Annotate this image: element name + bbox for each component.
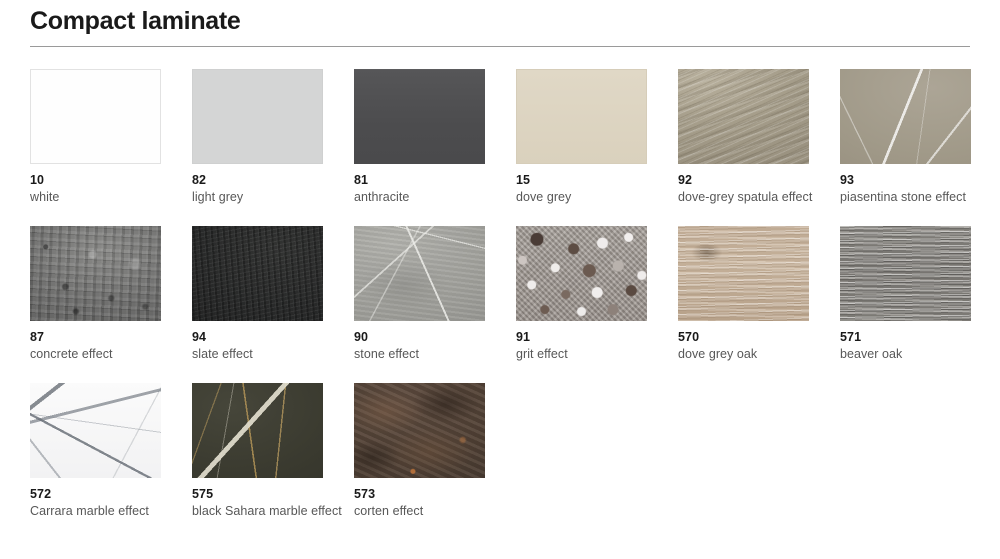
swatch-name: concrete effect: [30, 347, 180, 363]
title-divider: [30, 46, 970, 47]
swatch-item[interactable]: 572Carrara marble effect: [30, 383, 182, 520]
swatch-meta: 91grit effect: [516, 330, 666, 363]
swatch-corten-effect[interactable]: [354, 383, 485, 478]
swatch-meta: 10white: [30, 173, 180, 206]
swatch-anthracite[interactable]: [354, 69, 485, 164]
swatch-item[interactable]: 81anthracite: [354, 69, 506, 206]
swatch-item[interactable]: 90stone effect: [354, 226, 506, 363]
swatch-name: Carrara marble effect: [30, 504, 180, 520]
swatch-code: 92: [678, 173, 828, 188]
swatch-item[interactable]: 87concrete effect: [30, 226, 182, 363]
swatch-item[interactable]: 570dove grey oak: [678, 226, 830, 363]
swatch-white[interactable]: [30, 69, 161, 164]
swatch-light-grey[interactable]: [192, 69, 323, 164]
swatch-meta: 94slate effect: [192, 330, 342, 363]
swatch-concrete-effect[interactable]: [30, 226, 161, 321]
swatch-name: stone effect: [354, 347, 504, 363]
swatch-item[interactable]: 82light grey: [192, 69, 344, 206]
swatch-item[interactable]: 92dove-grey spatula effect: [678, 69, 830, 206]
swatch-name: grit effect: [516, 347, 666, 363]
swatch-piasentina-stone-effect[interactable]: [840, 69, 971, 164]
swatch-dove-grey-oak[interactable]: [678, 226, 809, 321]
swatch-item[interactable]: 91grit effect: [516, 226, 668, 363]
swatch-item[interactable]: 10white: [30, 69, 182, 206]
swatch-dove-grey-spatula-effect[interactable]: [678, 69, 809, 164]
swatch-meta: 571beaver oak: [840, 330, 990, 363]
swatch-code: 15: [516, 173, 666, 188]
swatch-meta: 90stone effect: [354, 330, 504, 363]
swatch-code: 87: [30, 330, 180, 345]
swatch-meta: 15dove grey: [516, 173, 666, 206]
page-title: Compact laminate: [30, 4, 241, 38]
swatch-item[interactable]: 93piasentina stone effect: [840, 69, 992, 206]
compact-laminate-finishes-page: Compact laminate 10white82light grey81an…: [0, 0, 1000, 559]
swatch-code: 93: [840, 173, 990, 188]
swatch-carrara-marble-effect[interactable]: [30, 383, 161, 478]
swatch-meta: 573corten effect: [354, 487, 504, 520]
swatch-grit-effect[interactable]: [516, 226, 647, 321]
swatch-item[interactable]: 94slate effect: [192, 226, 344, 363]
swatch-meta: 82light grey: [192, 173, 342, 206]
swatch-name: dove grey: [516, 190, 666, 206]
swatch-code: 94: [192, 330, 342, 345]
swatch-meta: 81anthracite: [354, 173, 504, 206]
swatch-row-2: 87concrete effect94slate effect90stone e…: [30, 226, 985, 383]
swatch-item[interactable]: 575black Sahara marble effect: [192, 383, 344, 520]
swatch-code: 573: [354, 487, 504, 502]
swatch-code: 571: [840, 330, 990, 345]
swatch-name: slate effect: [192, 347, 342, 363]
swatch-code: 90: [354, 330, 504, 345]
swatch-dove-grey[interactable]: [516, 69, 647, 164]
swatch-code: 81: [354, 173, 504, 188]
swatch-meta: 87concrete effect: [30, 330, 180, 363]
swatch-code: 570: [678, 330, 828, 345]
swatch-row-1: 10white82light grey81anthracite15dove gr…: [30, 69, 985, 226]
swatch-name: anthracite: [354, 190, 504, 206]
swatch-name: light grey: [192, 190, 342, 206]
swatch-meta: 575black Sahara marble effect: [192, 487, 342, 520]
swatch-beaver-oak[interactable]: [840, 226, 971, 321]
swatch-name: piasentina stone effect: [840, 190, 990, 206]
swatch-name: beaver oak: [840, 347, 990, 363]
swatch-row-3: 572Carrara marble effect575black Sahara …: [30, 383, 985, 523]
swatch-name: black Sahara marble effect: [192, 504, 342, 520]
swatch-name: dove-grey spatula effect: [678, 190, 828, 206]
swatch-black-sahara-marble-effect[interactable]: [192, 383, 323, 478]
swatch-name: corten effect: [354, 504, 504, 520]
swatch-grid: 10white82light grey81anthracite15dove gr…: [30, 69, 985, 523]
swatch-code: 575: [192, 487, 342, 502]
swatch-code: 10: [30, 173, 180, 188]
swatch-stone-effect[interactable]: [354, 226, 485, 321]
swatch-meta: 570dove grey oak: [678, 330, 828, 363]
swatch-item[interactable]: 573corten effect: [354, 383, 506, 520]
swatch-item[interactable]: 571beaver oak: [840, 226, 992, 363]
swatch-code: 572: [30, 487, 180, 502]
swatch-meta: 93piasentina stone effect: [840, 173, 990, 206]
swatch-code: 91: [516, 330, 666, 345]
swatch-item[interactable]: 15dove grey: [516, 69, 668, 206]
swatch-slate-effect[interactable]: [192, 226, 323, 321]
swatch-meta: 92dove-grey spatula effect: [678, 173, 828, 206]
swatch-name: white: [30, 190, 180, 206]
swatch-meta: 572Carrara marble effect: [30, 487, 180, 520]
swatch-name: dove grey oak: [678, 347, 828, 363]
swatch-code: 82: [192, 173, 342, 188]
